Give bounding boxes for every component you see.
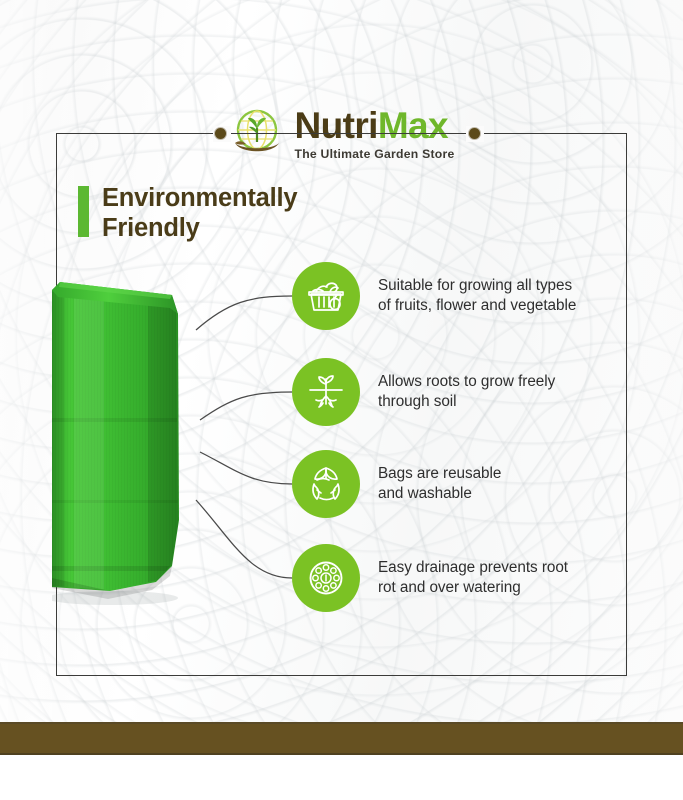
- infographic-page: NutriMax The Ultimate Garden Store Envir…: [0, 0, 683, 800]
- feature-text: Allows roots to grow freely through soil: [378, 372, 555, 413]
- vegetable-basket-icon: [292, 262, 360, 330]
- feature-item: Suitable for growing all types of fruits…: [292, 262, 622, 330]
- feature-item: Bags are reusable and washable: [292, 450, 622, 518]
- frame-dot-left-icon: [215, 128, 226, 139]
- frame-dot-right-icon: [469, 128, 480, 139]
- product-grow-bag-image: [52, 268, 202, 606]
- headline-accent-bar: [78, 186, 89, 237]
- bottom-brown-bar: [0, 722, 683, 755]
- recycle-leaves-icon: [292, 450, 360, 518]
- feature-text: Suitable for growing all types of fruits…: [378, 276, 576, 317]
- feature-text: Bags are reusable and washable: [378, 464, 501, 505]
- feature-text: Easy drainage prevents root rot and over…: [378, 558, 568, 599]
- sprout-roots-icon: [292, 358, 360, 426]
- feature-item: Allows roots to grow freely through soil: [292, 358, 622, 426]
- bottom-white-strip: [0, 755, 683, 800]
- headline: Environmentally Friendly: [78, 184, 297, 244]
- headline-text: Environmentally Friendly: [102, 184, 297, 244]
- feature-item: Easy drainage prevents root rot and over…: [292, 544, 622, 612]
- drainage-holes-icon: [292, 544, 360, 612]
